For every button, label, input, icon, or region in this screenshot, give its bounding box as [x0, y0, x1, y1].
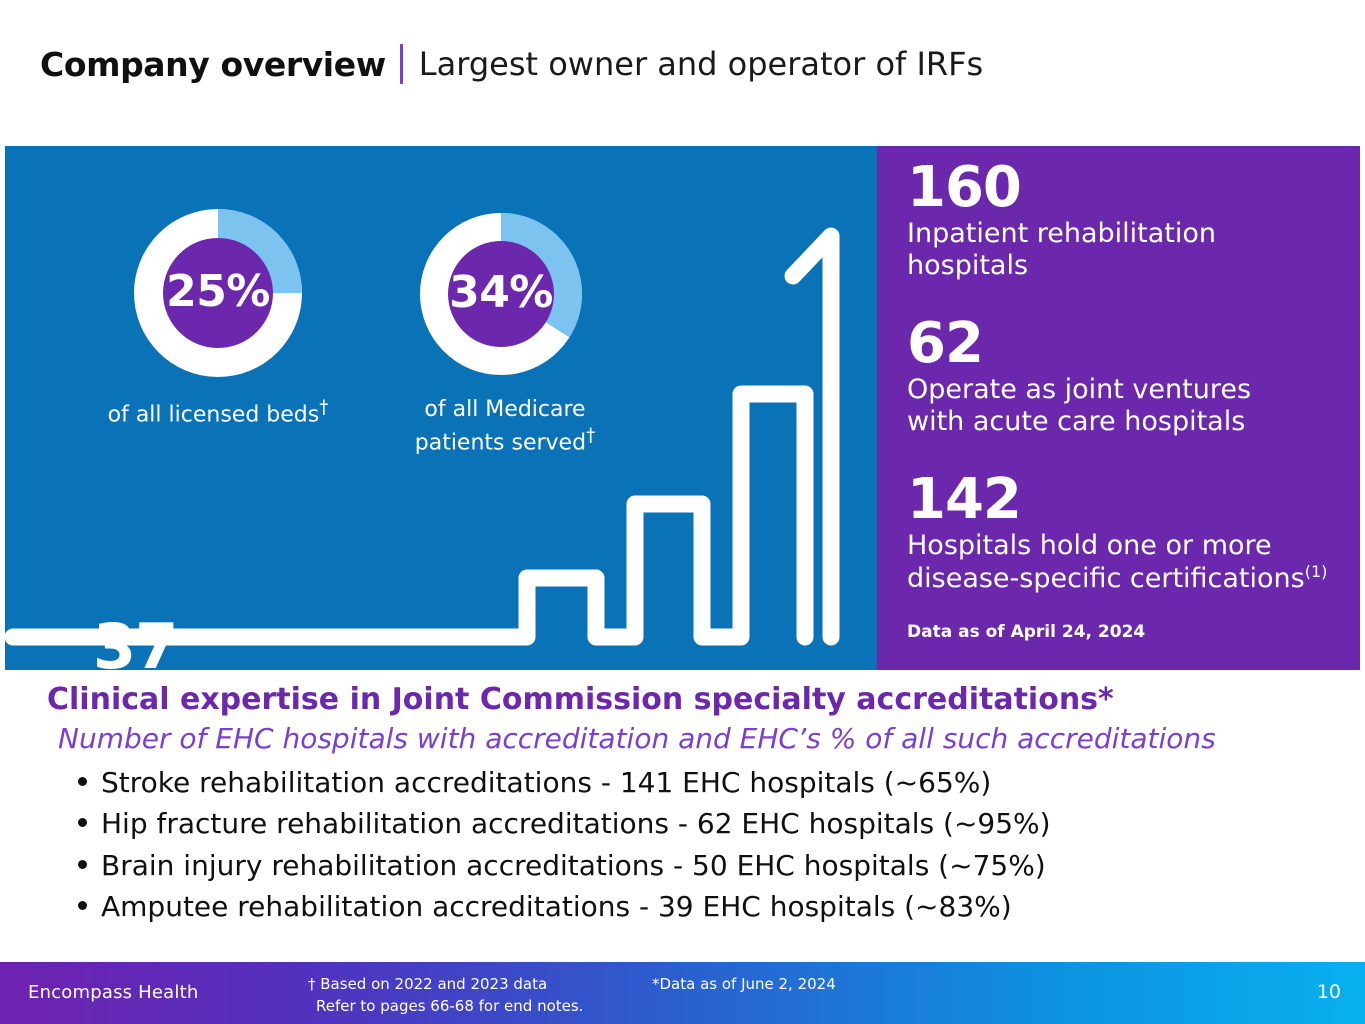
donut-caption-2-line1: of all Medicare: [424, 397, 585, 422]
stat-joint-ventures-caption: Operate as joint ventures with acute car…: [907, 374, 1287, 439]
purple-panel: 160 Inpatient rehabilitation hospitals 6…: [877, 146, 1360, 670]
bullet-dot-icon: [78, 777, 87, 786]
donut-caption-1-sup: †: [319, 397, 328, 418]
slide-header: Company overview Largest owner and opera…: [40, 44, 983, 84]
list-item-text: Stroke rehabilitation accreditations - 1…: [101, 762, 991, 803]
slide-footer: Encompass Health † Based on 2022 and 202…: [0, 962, 1365, 1024]
brand-logo: Encompass Health: [28, 982, 198, 1003]
accreditations-section: Clinical expertise in Joint Commission s…: [0, 682, 1365, 928]
donut-chart-medicare-patients: 34%: [419, 212, 583, 376]
list-item-text: Amputee rehabilitation accreditations - …: [101, 886, 1012, 927]
donut-caption-1: of all licensed beds†: [53, 396, 383, 429]
list-item: Stroke rehabilitation accreditations - 1…: [78, 762, 1365, 803]
page-title: Company overview: [40, 48, 386, 81]
donut-value-2: 34%: [419, 267, 583, 318]
bullet-dot-icon: [78, 860, 87, 869]
stat-certifications: 142 Hospitals hold one or more disease-s…: [907, 472, 1337, 596]
list-item: Hip fracture rehabilitation accreditatio…: [78, 803, 1365, 844]
header-subtitle: Largest owner and operator of IRFs: [419, 48, 983, 80]
donut-value-1: 25%: [133, 266, 303, 317]
purple-panel-date: Data as of April 24, 2024: [907, 622, 1145, 642]
accreditations-subheading: Number of EHC hospitals with accreditati…: [58, 722, 1365, 756]
donut-caption-1-text: of all licensed beds: [108, 402, 320, 427]
header-divider: [400, 44, 403, 84]
stat-hospitals-caption: Inpatient rehabilitation hospitals: [907, 218, 1247, 283]
donut-chart-licensed-beds: 25%: [133, 208, 303, 378]
list-item: Brain injury rehabilitation accreditatio…: [78, 845, 1365, 886]
blue-panel: 25% of all licensed beds† 34% of all Med…: [5, 146, 877, 670]
list-item: Amputee rehabilitation accreditations - …: [78, 886, 1365, 927]
bullet-dot-icon: [78, 818, 87, 827]
accreditations-heading: Clinical expertise in Joint Commission s…: [47, 682, 1365, 717]
stat-joint-ventures-number: 62: [907, 316, 1287, 372]
accreditations-bullet-list: Stroke rehabilitation accreditations - 1…: [0, 762, 1365, 928]
stat-certifications-sup: (1): [1305, 562, 1328, 581]
stat-certifications-caption: Hospitals hold one or more disease-speci…: [907, 530, 1337, 596]
bullet-dot-icon: [78, 901, 87, 910]
stat-certifications-number: 142: [907, 472, 1337, 528]
donut-caption-2-line2: patients served: [415, 430, 586, 455]
slide-root: Company overview Largest owner and opera…: [0, 0, 1365, 1024]
list-item-text: Hip fracture rehabilitation accreditatio…: [101, 803, 1051, 844]
footnote-left: † Based on 2022 and 2023 data Refer to p…: [308, 974, 583, 1018]
footnote-left-line2: Refer to pages 66-68 for end notes.: [316, 996, 583, 1018]
list-item-text: Brain injury rehabilitation accreditatio…: [101, 845, 1046, 886]
stat-hospitals-number: 160: [907, 160, 1247, 216]
stat-hospitals: 160 Inpatient rehabilitation hospitals: [907, 160, 1247, 283]
donut-caption-2-sup: †: [586, 425, 595, 446]
stat-states-number: 37: [93, 618, 371, 677]
donut-caption-2: of all Medicare patients served†: [365, 396, 645, 458]
page-number: 10: [1317, 981, 1341, 1003]
footnote-left-line1: † Based on 2022 and 2023 data: [308, 975, 547, 993]
footnote-right: *Data as of June 2, 2024: [652, 974, 836, 996]
stat-joint-ventures: 62 Operate as joint ventures with acute …: [907, 316, 1287, 439]
stat-certifications-caption-text: Hospitals hold one or more disease-speci…: [907, 530, 1305, 594]
stats-band: 25% of all licensed beds† 34% of all Med…: [5, 146, 1360, 670]
